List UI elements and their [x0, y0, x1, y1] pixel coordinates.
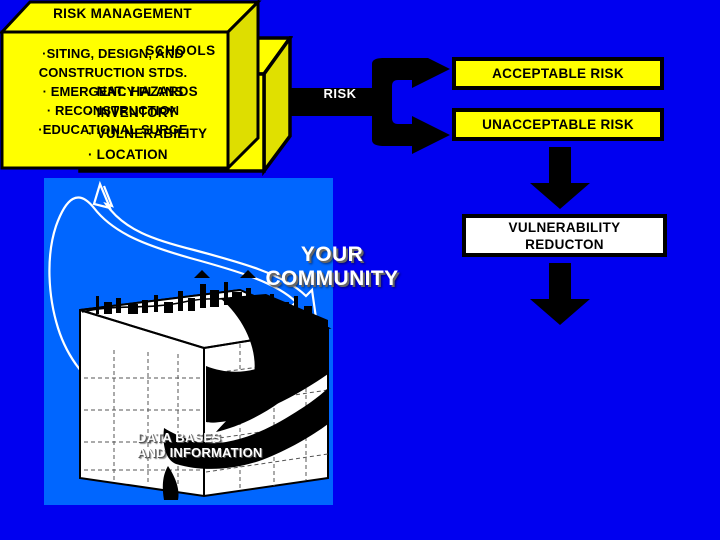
community-label-line1: YOUR — [252, 243, 412, 267]
risk-label: RISK — [310, 86, 370, 101]
risk-management-title: RISK MANAGEMENT — [20, 6, 225, 21]
your-community-label: YOUR COMMUNITY — [252, 243, 412, 291]
down-arrow-icon-1 — [528, 147, 592, 209]
vulnerability-line2: REDUCTON — [525, 236, 604, 253]
databases-label-line2: AND INFORMATION — [137, 445, 263, 460]
databases-and-information-label: DATA BASES AND INFORMATION — [137, 430, 263, 460]
list-item: ·EDUCATIONAL SURGE — [8, 120, 218, 139]
community-illustration-panel: DATA BASES AND INFORMATION HAZARDS: GROU… — [44, 178, 333, 505]
vulnerability-reduction-box: VULNERABILITY REDUCTON — [462, 214, 667, 257]
risk-connector: RISK — [272, 58, 450, 154]
databases-label-line1: DATA BASES — [137, 430, 263, 445]
risk-management-action-list: ·SITING, DESIGN, AND CONSTRUCTION STDS. … — [8, 44, 218, 139]
list-item: · RECONSTRUCTION — [8, 101, 218, 120]
unacceptable-risk-box: UNACCEPTABLE RISK — [452, 108, 664, 141]
diagram-canvas: DATA BASES AND INFORMATION HAZARDS: GROU… — [0, 0, 720, 540]
list-item: LOCATION — [88, 144, 256, 165]
list-item: ·SITING, DESIGN, AND — [8, 44, 218, 63]
acceptable-risk-box: ACCEPTABLE RISK — [452, 57, 664, 90]
list-item: CONSTRUCTION STDS. — [8, 63, 218, 82]
list-item: · EMERGENCY PLANS — [8, 82, 218, 101]
down-arrow-icon-2 — [528, 263, 592, 325]
community-label-line2: COMMUNITY — [252, 267, 412, 291]
forked-arrow-icon — [272, 58, 450, 154]
vulnerability-line1: VULNERABILITY — [509, 219, 621, 236]
